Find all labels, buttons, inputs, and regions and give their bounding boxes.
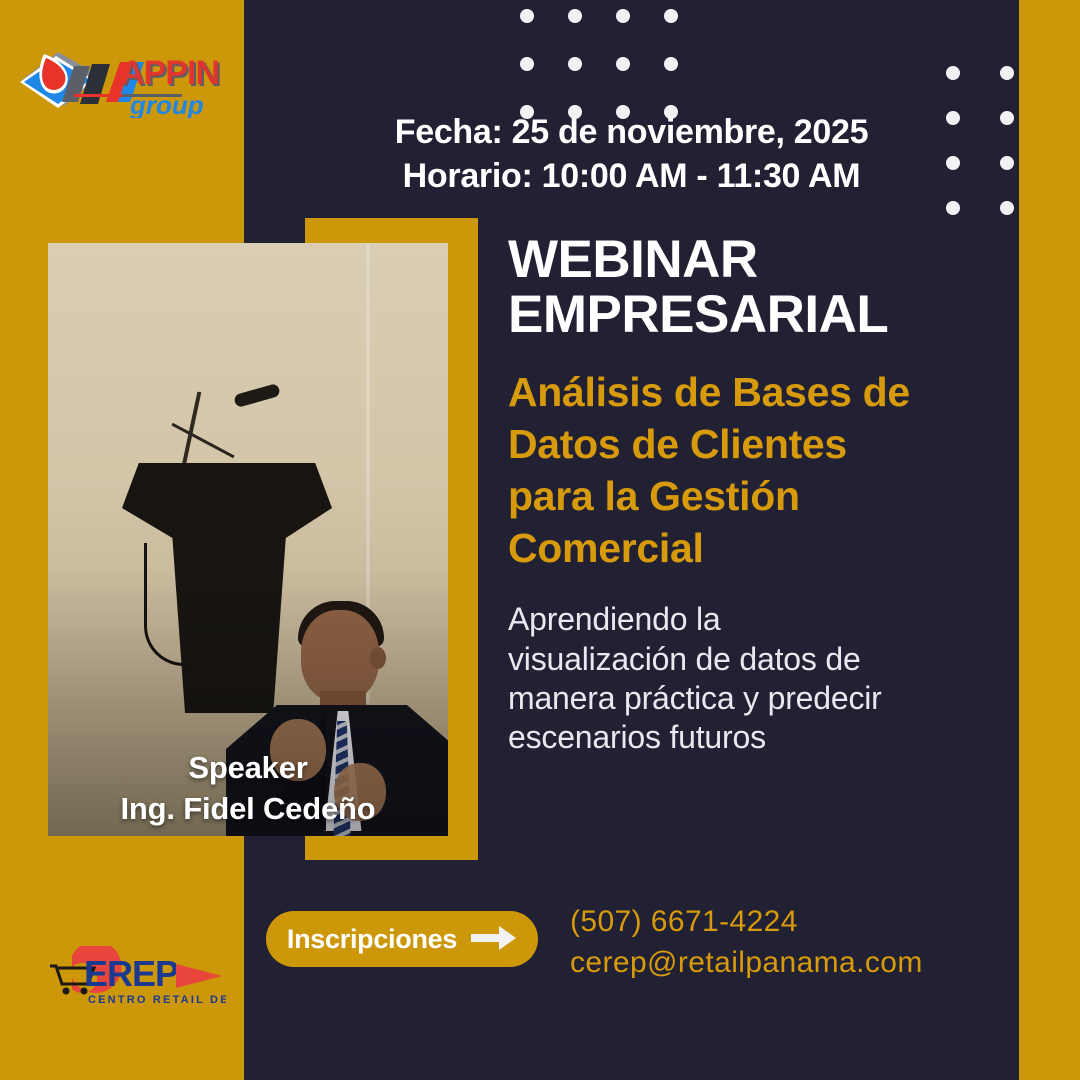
contact-phone[interactable]: (507) 6671-4224 xyxy=(570,901,1010,942)
title-line-2: EMPRESARIAL xyxy=(508,285,888,344)
svg-text:APPIN: APPIN xyxy=(120,54,219,92)
title-line-1: WEBINAR xyxy=(508,230,758,289)
cerep-wordmark: EREP xyxy=(84,953,178,994)
decor-top-dot xyxy=(616,57,630,71)
decor-right-dot xyxy=(1000,66,1014,80)
decor-right-dot xyxy=(946,66,960,80)
webinar-description: Aprendiendo la visualización de datos de… xyxy=(508,600,898,756)
event-date: Fecha: 25 de noviembre, 2025 xyxy=(244,110,1019,154)
event-datetime-header: Fecha: 25 de noviembre, 2025 Horario: 10… xyxy=(244,110,1019,198)
page-title: WEBINAR EMPRESARIAL xyxy=(508,232,978,342)
decor-top-dot xyxy=(664,9,678,23)
speaker-name: Ing. Fidel Cedeño xyxy=(48,789,448,830)
cerep-logo: EREP CENTRO RETAIL DE PANAMÁ xyxy=(26,946,226,1010)
webinar-subtitle: Análisis de Bases de Datos de Clientes p… xyxy=(508,366,928,574)
cerep-tagline: CENTRO RETAIL DE PANAMÁ xyxy=(88,993,226,1006)
svg-text:group: group xyxy=(129,90,204,118)
mappin-group-logo: APPIN APPIN group xyxy=(14,46,226,118)
speaker-caption: Speaker Ing. Fidel Cedeño xyxy=(48,748,448,830)
mappin-diamond-mark xyxy=(20,52,110,108)
cta-label: Inscripciones xyxy=(287,924,457,955)
decor-right-dot xyxy=(1000,201,1014,215)
webinar-poster: APPIN APPIN group Fecha: 25 de noviembre… xyxy=(0,0,1080,1080)
decor-top-dot xyxy=(568,9,582,23)
speaker-role: Speaker xyxy=(48,748,448,789)
decor-top-dot xyxy=(568,57,582,71)
arrow-right-icon xyxy=(471,924,517,955)
main-content: WEBINAR EMPRESARIAL Análisis de Bases de… xyxy=(508,232,978,757)
decor-top-dot xyxy=(616,9,630,23)
inscripciones-button[interactable]: Inscripciones xyxy=(266,911,538,967)
contact-email[interactable]: cerep@retailpanama.com xyxy=(570,942,1010,983)
decor-top-dot xyxy=(664,57,678,71)
cerep-arrow-icon xyxy=(176,964,222,988)
decor-top-dot xyxy=(520,57,534,71)
event-time: Horario: 10:00 AM - 11:30 AM xyxy=(244,154,1019,198)
contact-info: (507) 6671-4224 cerep@retailpanama.com xyxy=(570,901,1010,984)
decor-top-dot xyxy=(520,9,534,23)
decor-right-dot xyxy=(946,201,960,215)
